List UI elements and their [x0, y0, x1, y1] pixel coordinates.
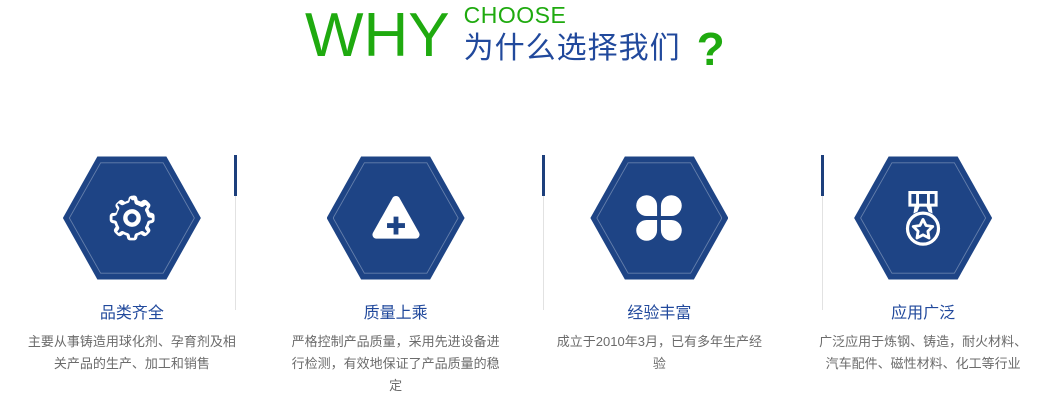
hexagon-badge-3 [590, 154, 728, 282]
feature-card-1[interactable]: 品类齐全 主要从事铸造用球化剂、孕育剂及相关产品的生产、加工和销售 [0, 145, 264, 416]
page-subtitle-cn: 为什么选择我们 [464, 30, 681, 68]
feature-card-description: 广泛应用于炼钢、铸造，耐火材料、汽车配件、磁性材料、化工等行业 [819, 331, 1027, 375]
hexagon-badge-4 [854, 154, 992, 282]
clover-icon [590, 154, 728, 282]
feature-card-2[interactable]: 质量上乘 严格控制产品质量，采用先进设备进行检测，有效地保证了产品质量的稳定 [264, 145, 528, 416]
feature-card-description: 主要从事铸造用球化剂、孕育剂及相关产品的生产、加工和销售 [28, 331, 236, 375]
triangle-plus-icon [327, 154, 465, 282]
feature-card-3[interactable]: 经验丰富 成立于2010年3月，已有多年生产经验 [528, 145, 792, 416]
header-inner: WHY CHOOSE 为什么选择我们 ? [305, 0, 725, 72]
section-header: WHY CHOOSE 为什么选择我们 ? [0, 0, 1055, 92]
gear-icon [63, 154, 201, 282]
feature-card-description: 严格控制产品质量，采用先进设备进行检测，有效地保证了产品质量的稳定 [292, 331, 500, 397]
feature-card-description: 成立于2010年3月，已有多年生产经验 [555, 331, 763, 375]
page-title-why: WHY [305, 0, 450, 72]
feature-card-title: 品类齐全 [100, 303, 164, 325]
page-title-choose: CHOOSE [464, 2, 725, 29]
why-choose-us-section: WHY CHOOSE 为什么选择我们 ? [0, 0, 1055, 416]
feature-card-title: 应用广泛 [891, 303, 955, 325]
feature-card-title: 质量上乘 [364, 303, 428, 325]
medal-icon [854, 154, 992, 282]
feature-card-title: 经验丰富 [627, 303, 691, 325]
header-subtitle-row: 为什么选择我们 ? [464, 30, 725, 68]
question-mark-icon: ? [697, 30, 725, 68]
feature-card-list: 品类齐全 主要从事铸造用球化剂、孕育剂及相关产品的生产、加工和销售 质量上乘 严… [0, 145, 1055, 416]
feature-card-4[interactable]: 应用广泛 广泛应用于炼钢、铸造，耐火材料、汽车配件、磁性材料、化工等行业 [791, 145, 1055, 416]
hexagon-badge-2 [327, 154, 465, 282]
header-text-block: CHOOSE 为什么选择我们 ? [464, 0, 725, 68]
hexagon-badge-1 [63, 154, 201, 282]
